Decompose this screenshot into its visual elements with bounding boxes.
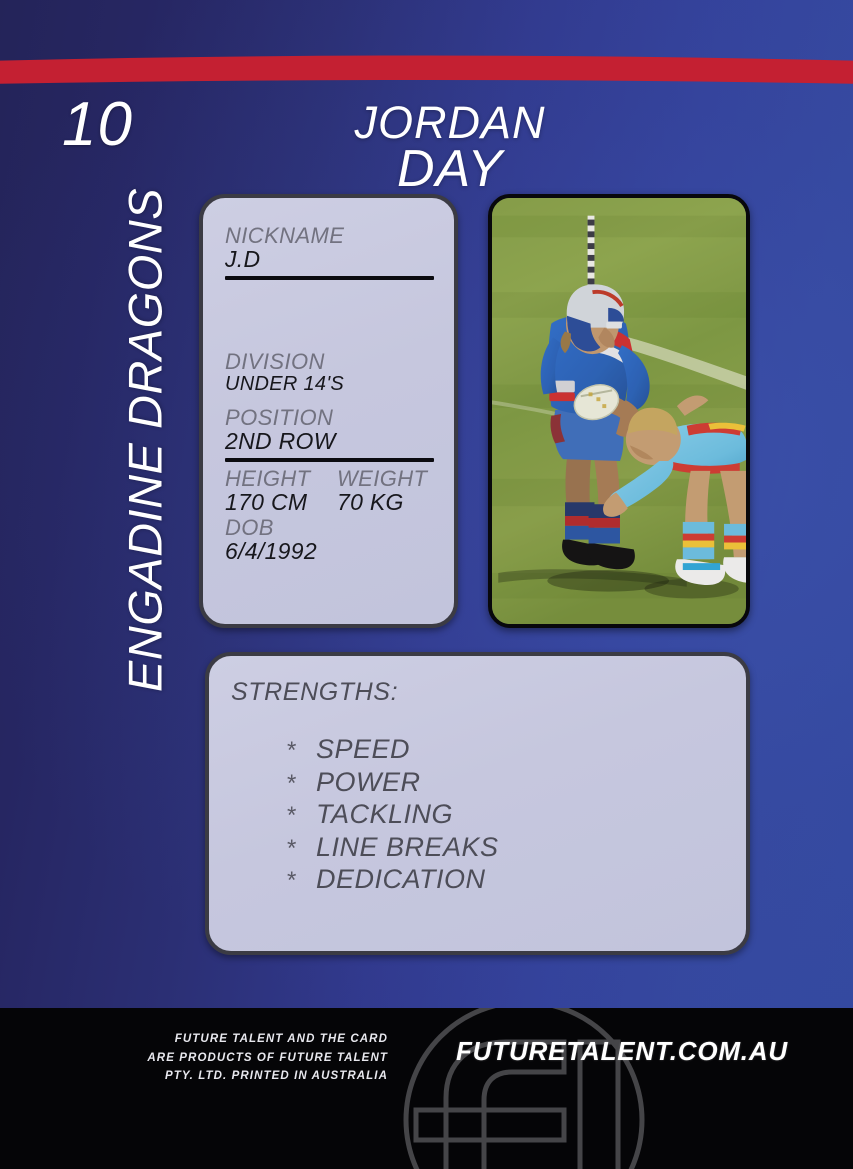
player-trading-card: 10 JORDAN DAY ENGADINE DRAGONS NICKNAME … — [0, 0, 853, 1169]
jersey-number: 10 — [62, 94, 133, 156]
team-name-container: ENGADINE DRAGONS — [105, 175, 185, 705]
bullet-star-icon: * — [286, 770, 316, 799]
strength-label: SPEED — [316, 733, 410, 765]
weight-column: WEIGHT 70 KG — [337, 467, 427, 516]
red-accent-stripe — [0, 52, 853, 86]
card-footer: FUTURE TALENT AND THE CARD ARE PRODUCTS … — [0, 1008, 853, 1169]
strength-label: LINE BREAKS — [316, 831, 499, 863]
division-value: UNDER 14'S — [225, 373, 434, 395]
bullet-star-icon: * — [286, 802, 316, 831]
strength-item: * POWER — [286, 766, 722, 799]
strengths-title: STRENGTHS: — [231, 678, 722, 707]
strength-label: TACKLING — [316, 798, 453, 830]
dob-label: DOB — [225, 516, 434, 539]
player-action-photo — [488, 194, 750, 628]
photo-image — [492, 198, 746, 624]
bullet-star-icon: * — [286, 867, 316, 896]
nickname-value: J.D — [225, 247, 434, 273]
height-value: 170 CM — [225, 490, 337, 516]
strengths-list: * SPEED * POWER * TACKLING * LINE BREAKS… — [231, 733, 722, 896]
legal-line-1: FUTURE TALENT AND THE CARD — [76, 1030, 388, 1049]
player-first-name: JORDAN — [300, 100, 600, 145]
legal-line-3: PTY. LTD. PRINTED IN AUSTRALIA — [76, 1067, 388, 1086]
position-value: 2ND ROW — [225, 429, 434, 455]
height-label: HEIGHT — [225, 467, 337, 490]
panel-spacer — [225, 280, 434, 350]
height-weight-row: HEIGHT 170 CM WEIGHT 70 KG — [225, 467, 434, 516]
height-column: HEIGHT 170 CM — [225, 467, 337, 516]
bullet-star-icon: * — [286, 835, 316, 864]
division-label: DIVISION — [225, 350, 434, 373]
strength-label: POWER — [316, 766, 421, 798]
player-info-panel: NICKNAME J.D DIVISION UNDER 14'S POSITIO… — [199, 194, 458, 628]
nickname-label: NICKNAME — [225, 224, 434, 247]
player-name: JORDAN DAY — [300, 100, 600, 195]
strength-item: * TACKLING — [286, 798, 722, 831]
strength-label: DEDICATION — [316, 863, 486, 895]
player-last-name: DAY — [300, 143, 600, 195]
legal-text: FUTURE TALENT AND THE CARD ARE PRODUCTS … — [76, 1030, 388, 1086]
ft-monogram-logo-icon — [328, 1008, 748, 1169]
legal-line-2: ARE PRODUCTS OF FUTURE TALENT — [76, 1049, 388, 1068]
strength-item: * SPEED — [286, 733, 722, 766]
strength-item: * DEDICATION — [286, 863, 722, 896]
strengths-panel: STRENGTHS: * SPEED * POWER * TACKLING * … — [205, 652, 750, 955]
team-name: ENGADINE DRAGONS — [118, 188, 173, 692]
weight-value: 70 KG — [337, 490, 427, 516]
website-url[interactable]: FUTURETALENT.COM.AU — [456, 1036, 788, 1067]
weight-label: WEIGHT — [337, 467, 427, 490]
bullet-star-icon: * — [286, 737, 316, 766]
strength-item: * LINE BREAKS — [286, 831, 722, 864]
position-label: POSITION — [225, 406, 434, 429]
dob-value: 6/4/1992 — [225, 539, 434, 565]
